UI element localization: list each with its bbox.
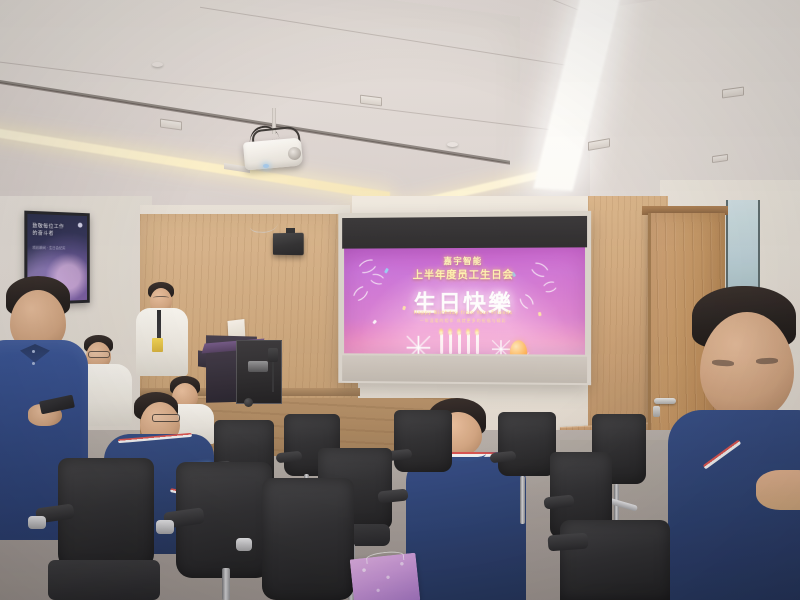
chair-arm-joint <box>236 538 252 551</box>
office-chair[interactable] <box>262 478 354 600</box>
door-lock-icon[interactable] <box>653 406 660 417</box>
screen-black-masking <box>342 216 587 249</box>
candle-flame-icon <box>475 328 479 335</box>
slide-content: 嘉宇智能 上半年度员工生日会 生日快樂 Happy Birthday from … <box>344 247 585 354</box>
glasses-icon <box>88 351 110 358</box>
polo-button-icon <box>32 350 35 353</box>
candle-icon <box>440 334 443 354</box>
chair-armrest[interactable] <box>547 533 588 552</box>
candle-flame-icon <box>448 328 452 335</box>
candle-flame-icon <box>466 328 470 335</box>
slide-event-title: 上半年度员工生日会 <box>344 267 585 283</box>
rack-caster-wheel <box>244 398 253 407</box>
poster-caption: 精彩瞬间 · 生日会纪实 <box>32 246 65 251</box>
polo-button-icon <box>32 362 35 365</box>
chair-arm-joint <box>28 516 46 529</box>
candle-icon <box>449 334 452 354</box>
candle-flame-icon <box>457 328 461 335</box>
chair-arm-joint <box>156 520 174 534</box>
door-handle-icon[interactable] <box>654 398 676 404</box>
glasses-icon <box>153 296 169 301</box>
poster-logo-icon <box>78 223 83 228</box>
screen-lower-border <box>342 355 587 383</box>
candle-flame-icon <box>439 328 443 335</box>
chair-post <box>222 568 230 600</box>
wall-speaker <box>273 233 304 255</box>
person-shoulder-skin <box>756 470 800 510</box>
party-hat-icon <box>372 352 388 354</box>
sparkle-burst-icon <box>492 340 510 355</box>
lanyard-strap <box>157 310 161 340</box>
id-badge <box>152 338 163 352</box>
balloon-icon <box>510 340 527 355</box>
smoke-detector-icon <box>152 62 163 67</box>
music-stand-icon <box>268 348 278 362</box>
slide-subtitle-en: Happy Birthday from Your Friends <box>344 311 585 316</box>
candle-icon <box>467 334 470 354</box>
slide-company-name: 嘉宇智能 <box>344 254 585 267</box>
office-chair[interactable] <box>498 412 556 476</box>
projection-screen: 嘉宇智能 上半年度员工生日会 生日快樂 Happy Birthday from … <box>338 211 591 385</box>
candle-icon <box>476 334 479 354</box>
sparkle-burst-icon <box>407 336 431 355</box>
candle-icon <box>458 334 461 354</box>
smoke-detector-icon <box>447 142 458 147</box>
office-chair[interactable] <box>560 520 670 600</box>
chair-seat[interactable] <box>48 560 160 600</box>
chair-post <box>520 476 525 524</box>
slide-subtitle-cn: 一年温暖的相伴 成就更多的祝福与精彩 <box>344 318 585 325</box>
office-chair[interactable] <box>394 410 452 472</box>
poster-headline: 致敬每位工作 的奋斗者 <box>32 223 64 238</box>
rack-latch-icon <box>248 361 268 372</box>
conference-room-photo: 致敬每位工作 的奋斗者 精彩瞬间 · 生日会纪实 嘉宇智能 上半年度员工生日会 <box>0 0 800 600</box>
glasses-icon <box>152 414 180 422</box>
birthday-cake-icon <box>435 354 491 355</box>
projector-indicator-led <box>263 164 269 168</box>
